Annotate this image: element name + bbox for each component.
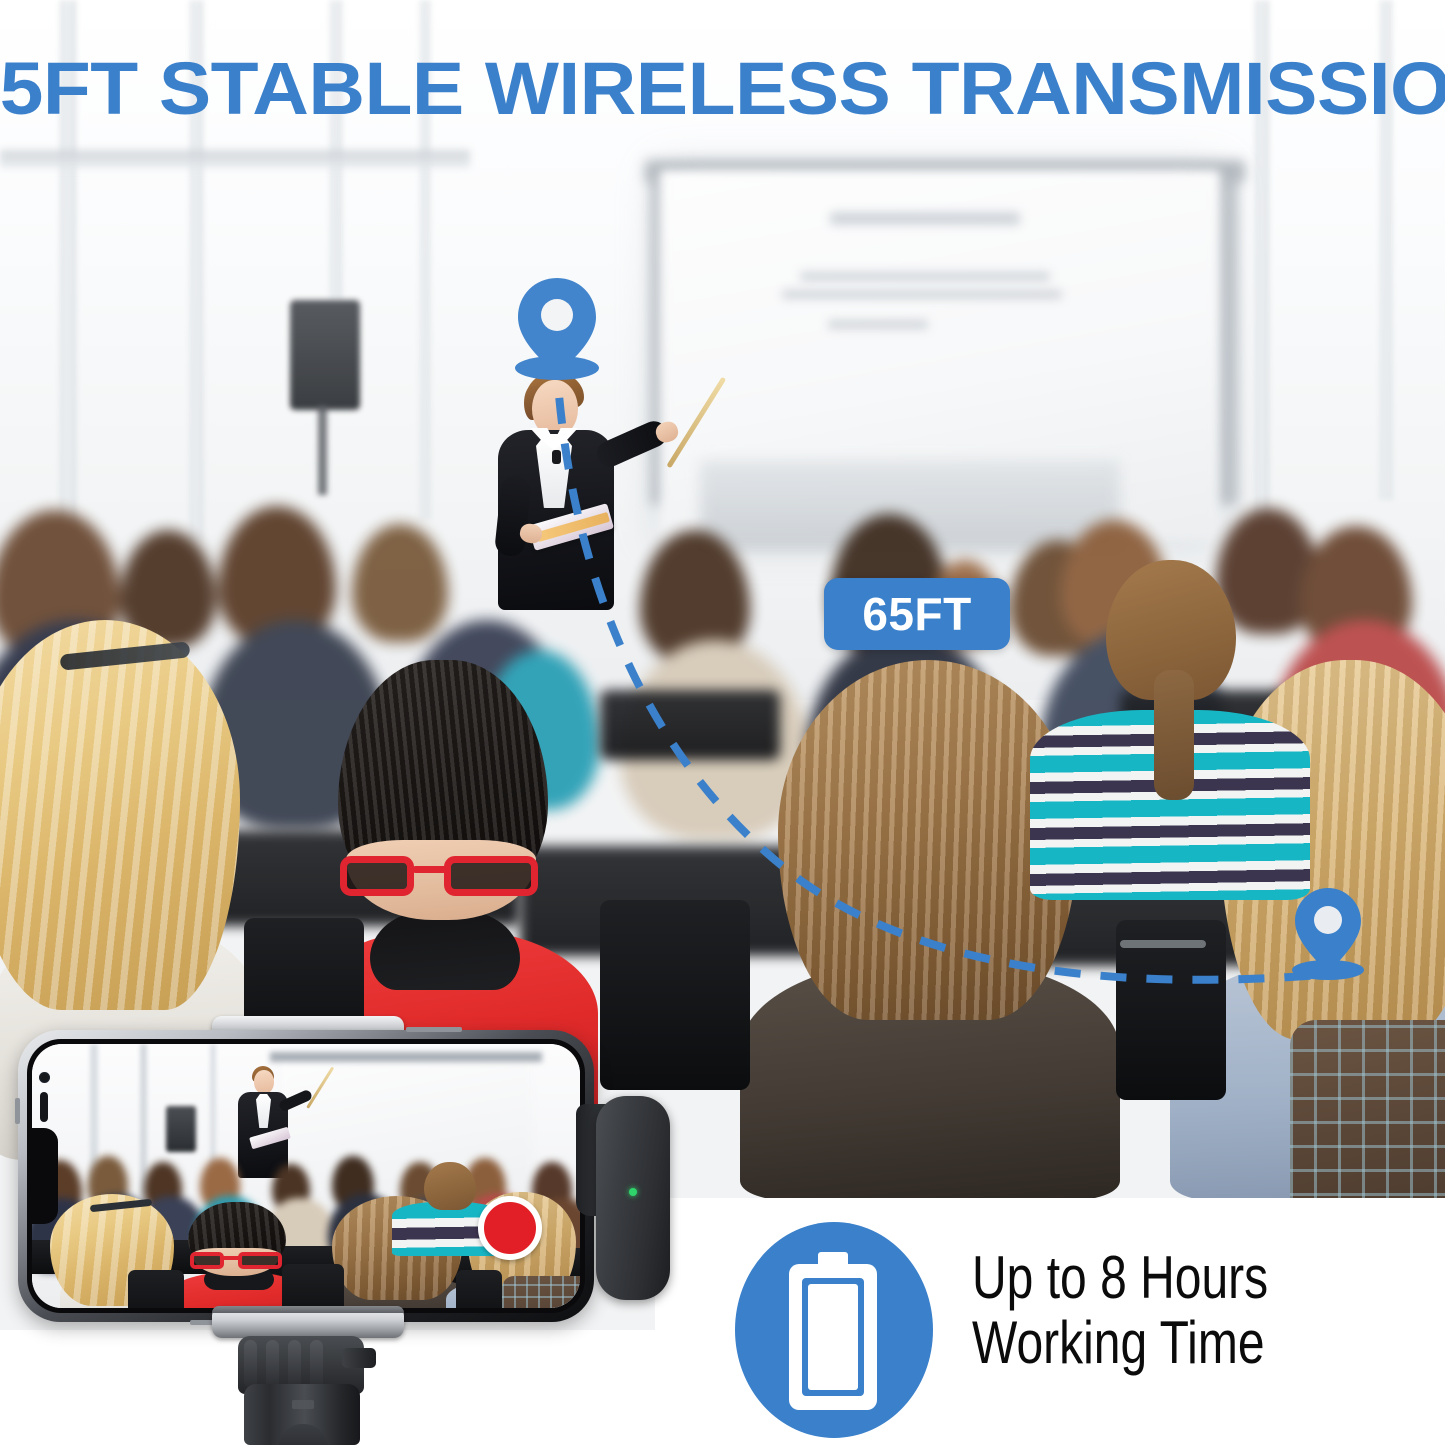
record-button[interactable]: [478, 1196, 542, 1260]
presenter-figure: [480, 372, 690, 637]
audience-member-striped-top: [1010, 560, 1310, 890]
presenter-head: [532, 380, 578, 436]
wireless-microphone-receiver: [596, 1096, 670, 1300]
location-pin-transmitter: [502, 272, 612, 380]
phone-tripod-mount: [244, 1384, 360, 1445]
seat: [600, 900, 750, 1090]
phone-power-button[interactable]: [406, 1027, 462, 1032]
phone-notch: [32, 1128, 58, 1224]
battery-feature-line2: Working Time: [972, 1311, 1348, 1376]
battery-icon: [783, 1252, 883, 1410]
seat-rail: [1120, 940, 1206, 948]
phone-screen[interactable]: [32, 1044, 580, 1308]
camera-viewfinder-preview: [32, 1044, 580, 1308]
tripod-tighten-knob[interactable]: [342, 1348, 376, 1368]
tripod-power-button[interactable]: [278, 1424, 328, 1445]
product-feature-image: 65FT 65FT STABLE WIRELESS TRANSMISSION U…: [0, 0, 1445, 1445]
lavalier-microphone: [552, 450, 561, 464]
distance-badge-label: 65FT: [862, 591, 971, 637]
battery-feature-text: Up to 8 Hours Working Time: [972, 1246, 1348, 1376]
location-pin-receiver: [1282, 884, 1374, 980]
phone-clamp-bottom: [212, 1306, 404, 1338]
phone-bezel: [27, 1039, 585, 1313]
phone-mute-switch[interactable]: [15, 1098, 20, 1124]
audience-member-plaid: [1290, 1020, 1445, 1220]
earpiece-icon: [40, 1092, 48, 1122]
front-camera-icon: [39, 1072, 50, 1083]
status-led-icon: [629, 1188, 637, 1196]
red-sunglasses: [340, 856, 548, 900]
battery-feature-line1: Up to 8 Hours: [972, 1244, 1268, 1311]
smartphone-landscape: [18, 1030, 594, 1322]
distance-badge: 65FT: [824, 578, 1010, 650]
preview-plaid: [502, 1276, 580, 1308]
page-title: 65FT STABLE WIRELESS TRANSMISSION: [0, 52, 1445, 126]
